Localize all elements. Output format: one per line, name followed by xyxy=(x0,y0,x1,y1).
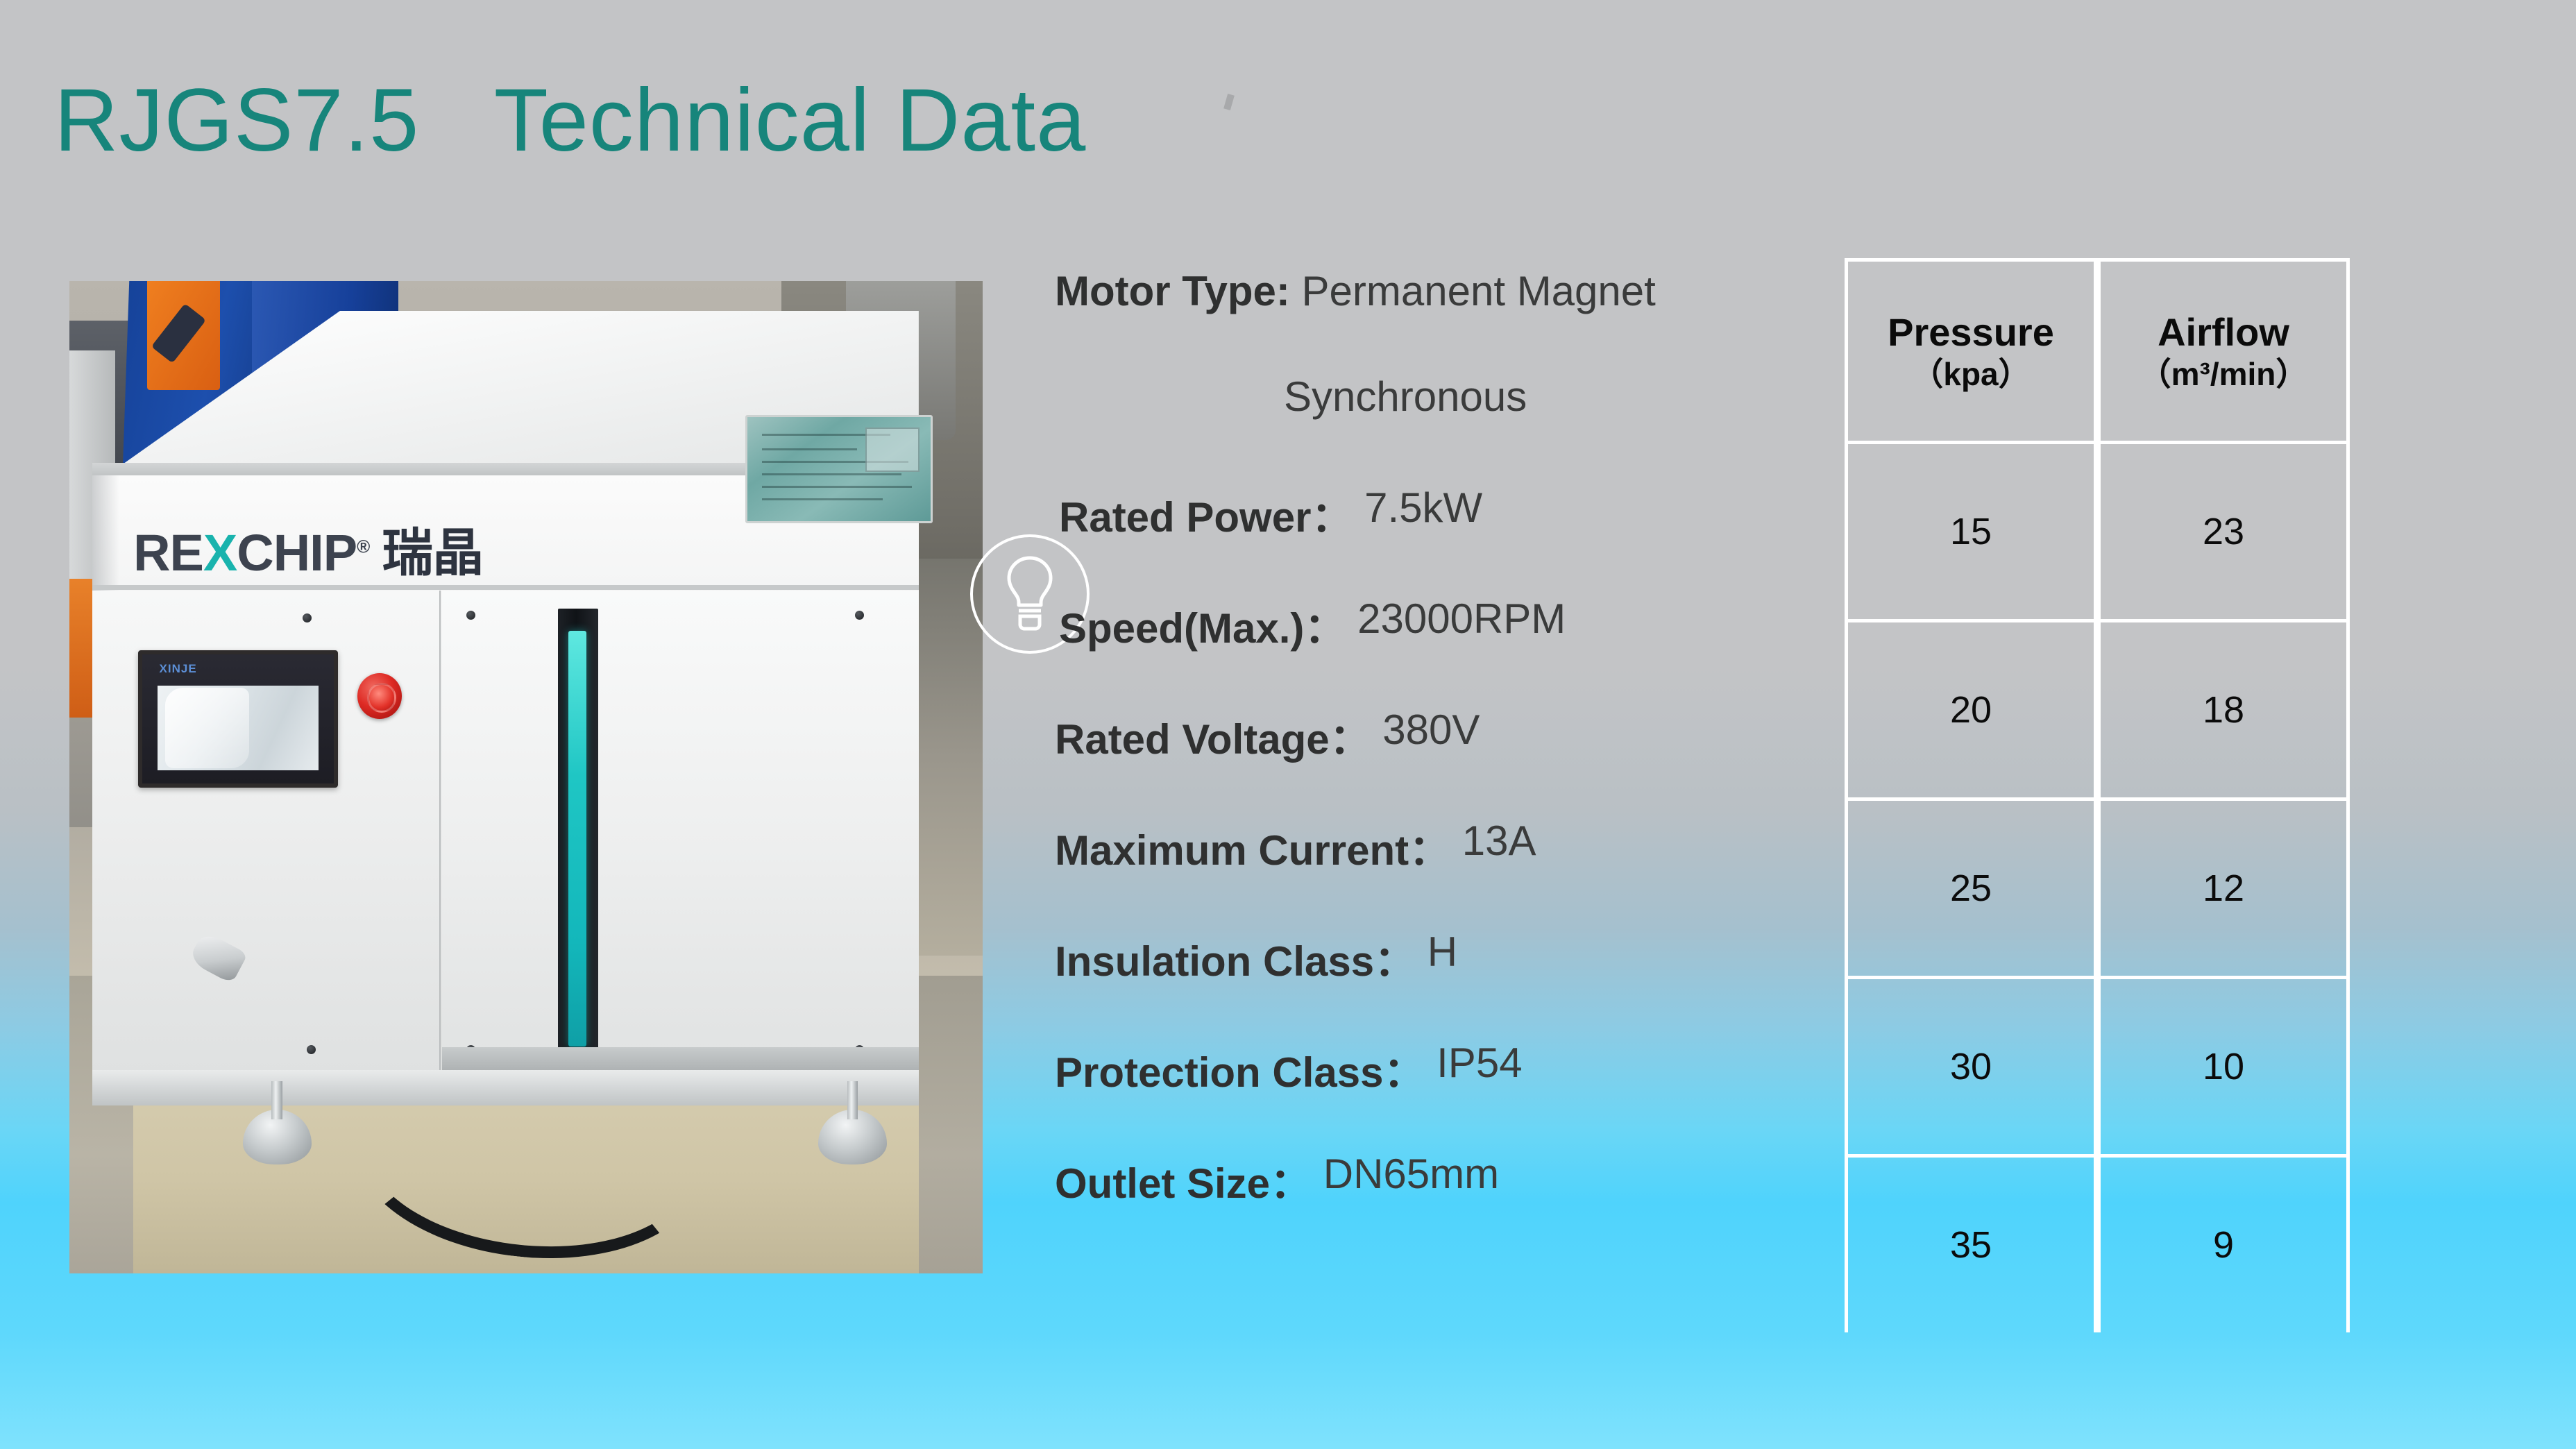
spec-row-insulation-class: Insulation Class： H xyxy=(1055,928,1825,1039)
machine-foot-right-stud xyxy=(847,1081,858,1119)
emergency-stop-button-inner xyxy=(367,683,396,713)
machine-door-right[interactable] xyxy=(442,591,919,1072)
hmi-screen[interactable] xyxy=(158,686,319,771)
table-header-airflow: Airflow （m³/min） xyxy=(2097,258,2350,441)
machine-bottom-rail xyxy=(92,1070,919,1105)
page-title: RJGS7.5 Technical Data xyxy=(54,76,1086,165)
table-row: 35 9 xyxy=(1845,1154,2350,1332)
hmi-brand-label: XINJE xyxy=(160,662,197,676)
table-cell-airflow: 12 xyxy=(2097,797,2350,976)
spec-row-rated-voltage: Rated Voltage： 380V xyxy=(1055,706,1825,817)
spec-value-insulation-class: H xyxy=(1427,928,1457,976)
brand-logo-chinese: 瑞晶 xyxy=(382,524,483,582)
machine-foot-left-stud xyxy=(271,1081,282,1119)
spec-value-rated-power: 7.5kW xyxy=(1364,484,1482,532)
table-cell-airflow: 18 xyxy=(2097,619,2350,797)
pressure-airflow-table: Pressure （kpa） Airflow （m³/min） 15 23 20… xyxy=(1845,258,2350,1332)
spec-row-motor-type: Motor Type: Permanent Magnet Synchronous xyxy=(1055,267,1825,378)
table-cell-airflow: 10 xyxy=(2097,976,2350,1154)
spec-value-speed-max: 23000RPM xyxy=(1357,595,1566,643)
brand-logo-x-mark: X xyxy=(203,524,237,582)
machine-nameplate xyxy=(745,415,932,523)
machine-bottom-shade xyxy=(442,1047,919,1071)
brand-logo: REXCHIP®瑞晶 xyxy=(133,511,483,586)
spec-row-speed-max: Speed(Max.)： 23000RPM xyxy=(1055,595,1825,706)
brand-logo-chip: CHIP xyxy=(237,524,357,582)
machine-led-strip xyxy=(568,631,586,1046)
machine-nameplate-qr xyxy=(865,427,920,472)
spec-label-protection-class: Protection Class： xyxy=(1055,1039,1425,1099)
table-cell-pressure: 15 xyxy=(1845,441,2097,619)
spec-label-motor-type: Motor Type: xyxy=(1055,267,1290,315)
spec-row-maximum-current: Maximum Current： 13A xyxy=(1055,817,1825,928)
spec-row-protection-class: Protection Class： IP54 xyxy=(1055,1039,1825,1150)
spec-label-rated-voltage: Rated Voltage： xyxy=(1055,706,1371,766)
spec-label-speed-max: Speed(Max.)： xyxy=(1059,595,1346,655)
emergency-stop-button[interactable] xyxy=(357,673,402,719)
table-header-row: Pressure （kpa） Airflow （m³/min） xyxy=(1845,258,2350,441)
spec-row-outlet-size: Outlet Size： DN65mm xyxy=(1055,1150,1825,1261)
table-cell-pressure: 20 xyxy=(1845,619,2097,797)
table-header-airflow-name: Airflow xyxy=(2158,310,2289,354)
table-cell-pressure: 35 xyxy=(1845,1154,2097,1332)
spec-label-outlet-size: Outlet Size： xyxy=(1055,1150,1312,1210)
spec-value-rated-voltage: 380V xyxy=(1382,706,1480,754)
table-cell-airflow: 23 xyxy=(2097,441,2350,619)
machine-led-channel xyxy=(558,609,598,1056)
brand-logo-registered-icon: ® xyxy=(357,536,369,557)
spec-list: Motor Type: Permanent Magnet Synchronous… xyxy=(1055,267,1825,1261)
table-body: 15 23 20 18 25 12 30 10 35 9 xyxy=(1845,441,2350,1332)
table-cell-pressure: 25 xyxy=(1845,797,2097,976)
table-row: 30 10 xyxy=(1845,976,2350,1154)
spec-value-protection-class: IP54 xyxy=(1437,1039,1522,1087)
machine-seam-band xyxy=(92,585,919,590)
table-row: 25 12 xyxy=(1845,797,2350,976)
table-cell-pressure: 30 xyxy=(1845,976,2097,1154)
spec-row-rated-power: Rated Power： 7.5kW xyxy=(1055,484,1825,595)
hmi-touch-panel[interactable]: XINJE xyxy=(138,650,338,788)
spec-label-maximum-current: Maximum Current： xyxy=(1055,817,1450,877)
hmi-screen-glare xyxy=(165,688,249,768)
table-header-pressure-unit: （kpa） xyxy=(1848,355,2094,393)
slide-root: RJGS7.5 Technical Data REXCHIP®瑞晶 xyxy=(0,0,2576,1449)
stray-tick-mark xyxy=(1223,94,1235,110)
product-photo: REXCHIP®瑞晶 XINJE xyxy=(69,281,983,1273)
table-header-pressure: Pressure （kpa） xyxy=(1845,258,2097,441)
table-cell-airflow: 9 xyxy=(2097,1154,2350,1332)
spec-value-motor-type: Permanent Magnet xyxy=(1302,267,1656,315)
spec-value-motor-type-line2: Synchronous xyxy=(1284,373,1527,421)
spec-label-rated-power: Rated Power： xyxy=(1059,484,1353,544)
brand-logo-re: RE xyxy=(133,524,203,582)
table-row: 20 18 xyxy=(1845,619,2350,797)
table-header-airflow-unit: （m³/min） xyxy=(2101,355,2346,393)
spec-value-outlet-size: DN65mm xyxy=(1323,1150,1499,1198)
spec-value-maximum-current: 13A xyxy=(1462,817,1536,865)
machine-screw-3 xyxy=(855,611,864,620)
machine-screw-1 xyxy=(303,613,312,622)
table-row: 15 23 xyxy=(1845,441,2350,619)
table-header-pressure-name: Pressure xyxy=(1888,310,2054,354)
spec-label-insulation-class: Insulation Class： xyxy=(1055,928,1416,988)
